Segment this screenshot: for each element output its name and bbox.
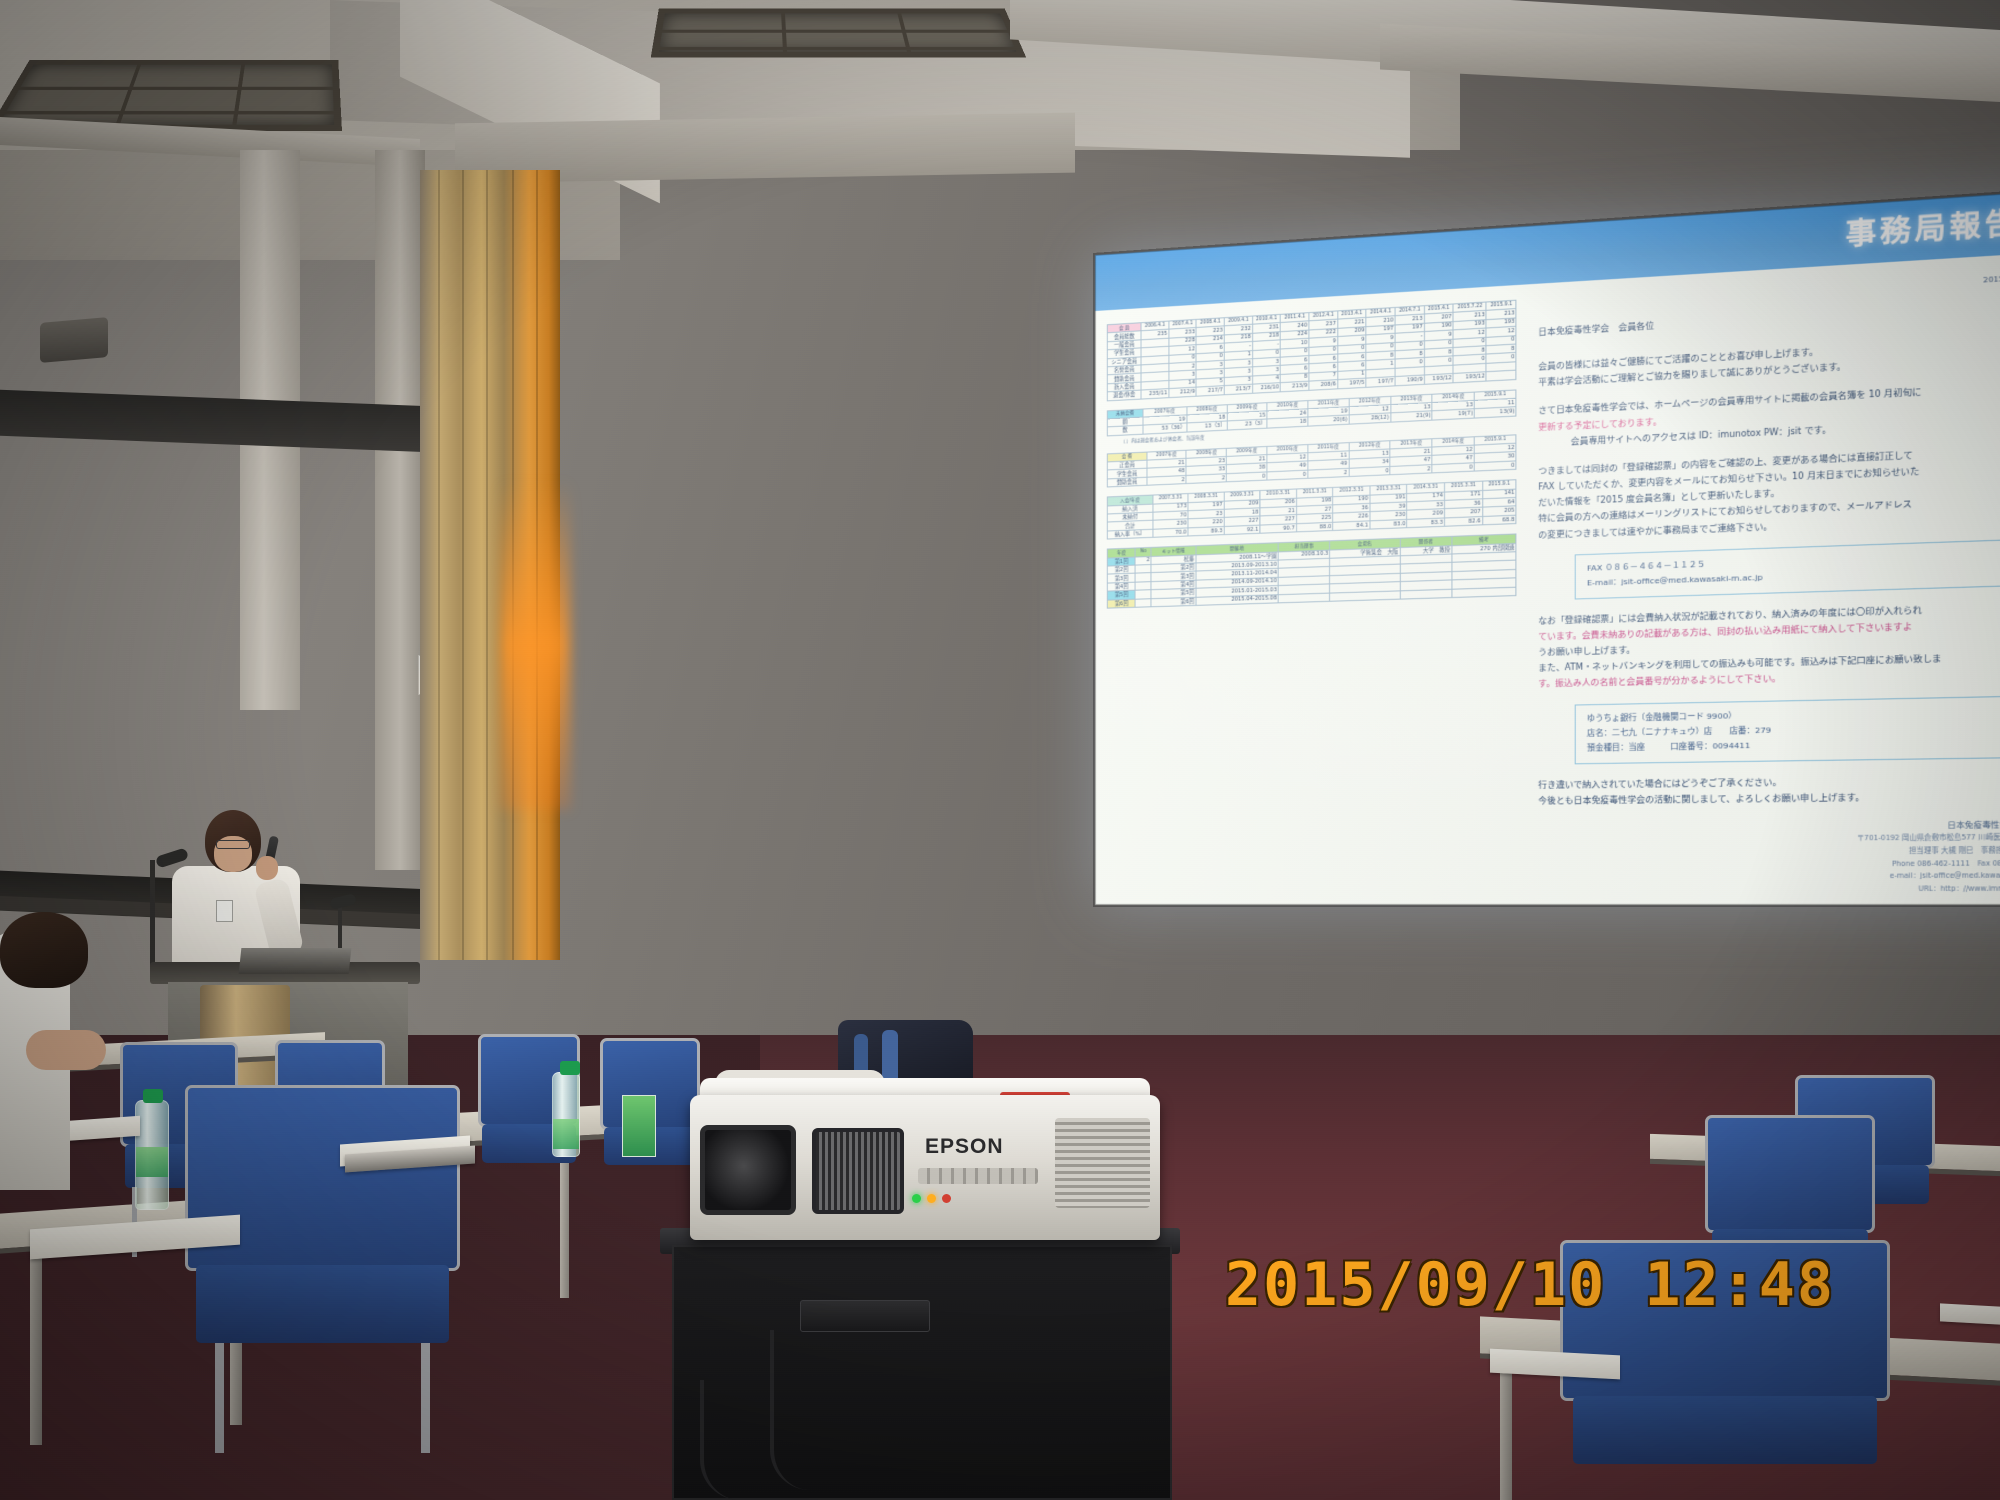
cell: 0 — [1227, 472, 1267, 482]
bottle-label — [136, 1147, 168, 1177]
letter-confirmation-notice: つきましては同封の「登録確認票」の内容をご確認の上、変更がある場合には直接訂正し… — [1538, 441, 2000, 543]
cell: 20(6) — [1308, 415, 1349, 426]
letter-closing: 行き違いで納入されていた場合にはどうぞご了承ください。 今後とも日本免疫毒性学会… — [1538, 771, 2000, 809]
cell: 208/6 — [1309, 380, 1338, 390]
led-power-icon — [912, 1194, 921, 1203]
cell: 21(9) — [1391, 411, 1433, 422]
wall-speaker — [40, 317, 108, 363]
cell: 190/9 — [1395, 375, 1424, 385]
led-temp-icon — [942, 1194, 951, 1203]
cell: 83.0 — [1370, 519, 1407, 529]
signature-email: e-mail：jsit-office@med.kawasaki-m.ac.jp — [1538, 870, 2000, 884]
cell: 216/10 — [1252, 383, 1280, 393]
cell: 193/12 — [1424, 374, 1453, 384]
table-leg — [1500, 1368, 1512, 1500]
row-label: 第6回 — [1107, 599, 1135, 608]
row-label: 納入率（%） — [1107, 529, 1152, 539]
handout-paper[interactable] — [1940, 1303, 2000, 1324]
chair-leg — [215, 1343, 224, 1453]
cell: 212/9 — [1169, 387, 1197, 397]
members-table: 会 員 2006.4.1 2007.4.1 2008.4.1 2009.4.1 … — [1107, 300, 1517, 401]
bottle-label — [553, 1119, 579, 1149]
cell — [1400, 589, 1452, 599]
cell — [1330, 590, 1400, 601]
cell — [1452, 587, 1516, 598]
cell: 197/5 — [1338, 378, 1367, 388]
camera-timestamp: 2015/09/10 12:48 — [1225, 1250, 1835, 1320]
cell: 84.1 — [1333, 521, 1370, 531]
cell: 19(7) — [1432, 409, 1474, 420]
projection-screen: 事務局報告 会 員 2006.4.1 2007.4.1 2008.4.1 200… — [1095, 189, 2000, 905]
cell: 2 — [1390, 464, 1432, 474]
speaker-glasses — [216, 840, 250, 849]
slide-tables-column: 会 員 2006.4.1 2007.4.1 2008.4.1 2009.4.1 … — [1095, 285, 1523, 905]
projector-exhaust-grill — [1055, 1118, 1150, 1208]
chair-leg — [421, 1343, 430, 1453]
podium-laptop — [239, 948, 352, 974]
chair-seat — [1573, 1396, 1877, 1464]
cell: 0 — [1349, 466, 1390, 476]
ceiling-coffer-right — [651, 8, 1026, 57]
cell: 70.0 — [1153, 528, 1189, 538]
cell: 2 — [1308, 468, 1349, 478]
chair-back — [1705, 1115, 1875, 1233]
cell: 197/7 — [1366, 377, 1395, 387]
cell: 235/11 — [1141, 389, 1169, 399]
cell: 第6回 — [1151, 597, 1195, 607]
attendee-foreground-arm — [26, 1030, 106, 1070]
letter-signature: 日本免疫毒性学会 事務局 〒701-0192 岡山県倉敷市松島577 川崎医科大… — [1538, 817, 2000, 896]
water-bottle[interactable] — [135, 1100, 169, 1210]
journal-table: 入会/年度 2007.3.312008.3.312009.3.312010.3.… — [1107, 479, 1517, 539]
bank-box: ゆうちょ銀行（金融機関コード 9900） 店名：二七九（ニナナキュウ）店 店番：… — [1575, 694, 2000, 764]
cell: 82.6 — [1445, 516, 1483, 526]
slide-body: 会 員 2006.4.1 2007.4.1 2008.4.1 2009.4.1 … — [1095, 251, 2000, 906]
projector-vent — [812, 1128, 904, 1214]
speaker-hand — [256, 856, 278, 880]
cell: 18 — [1267, 417, 1308, 428]
cell: 2 — [1147, 475, 1187, 485]
cell: 213/9 — [1281, 381, 1309, 391]
projector-brand-label: EPSON — [925, 1135, 1004, 1159]
table-leg — [30, 1255, 42, 1445]
power-cable — [700, 1380, 770, 1500]
projector-status-leds — [912, 1192, 1042, 1204]
cell: 88.0 — [1296, 522, 1333, 532]
row-label: 退会/休会 — [1107, 390, 1141, 400]
letter-payment-notice: なお「登録確認票」には会費納入状況が記載されており、納入済みの年度には〇印が入れ… — [1538, 598, 2000, 692]
slide-letter-column: 2015 年 10 月 1 日 日本免疫毒性学会 会員各位 会員の皆様には益々ご… — [1523, 251, 2000, 906]
curtain-light-glow — [500, 480, 570, 810]
photo-scene: 事務局報告 会 員 2006.4.1 2007.4.1 2008.4.1 200… — [0, 0, 2000, 1500]
cell: 0 — [1474, 461, 1516, 472]
cell: 0 — [1432, 463, 1474, 474]
cell: 53（36） — [1143, 423, 1187, 434]
cell: 83.3 — [1407, 518, 1444, 528]
water-bottle[interactable] — [552, 1072, 580, 1157]
chair-seat — [196, 1265, 449, 1343]
cell: 28(12) — [1349, 413, 1390, 424]
signature-url: URL：http：//www.immunotox.org — [1538, 883, 2000, 896]
bottle-cap — [560, 1061, 580, 1075]
cell — [1136, 598, 1152, 607]
projector-lens — [700, 1125, 796, 1215]
drink-carton[interactable] — [622, 1095, 656, 1157]
cell: 92.1 — [1224, 525, 1260, 535]
events-table: 年度 No キット情報 開催地 担当理事 会場名 関係者 備考 第1回 2松藤2… — [1107, 534, 1517, 609]
bottle-cap — [143, 1089, 163, 1103]
led-lamp-icon — [927, 1194, 936, 1203]
projector-button-row[interactable] — [918, 1168, 1038, 1184]
cell: 2 — [1186, 474, 1226, 484]
row-label: 数 — [1107, 425, 1142, 435]
av-cart-panel — [800, 1300, 930, 1332]
row-label: 賛助会員 — [1107, 477, 1146, 487]
cell: 13（3） — [1187, 421, 1227, 431]
cell: 0 — [1267, 470, 1308, 480]
pilaster-mid — [375, 150, 425, 870]
cell: 89.3 — [1188, 526, 1224, 536]
cell: 2015.04-2015.08 — [1196, 594, 1279, 605]
slide-content: 事務局報告 会 員 2006.4.1 2007.4.1 2008.4.1 200… — [1095, 189, 2000, 905]
cell: 90.7 — [1260, 524, 1296, 534]
cell: 193/12 — [1453, 372, 1486, 382]
cell: 213/7 — [1224, 384, 1252, 394]
power-cable — [770, 1330, 860, 1490]
cell — [1278, 593, 1330, 603]
letter-roster-notice: さて日本免疫毒性学会では、ホームページの会員専用サイトに掲載の会員名簿を 10 … — [1538, 378, 2000, 451]
cell: 23（3） — [1227, 419, 1267, 430]
contact-box: FAX ０８６－４６４－１１２５ E-mail：jsit-office@med.… — [1575, 537, 2000, 599]
speaker-name-badge — [216, 900, 233, 922]
cell: 217/7 — [1196, 386, 1224, 396]
cell: 13(9) — [1474, 407, 1516, 418]
attendee-foreground-head — [0, 912, 88, 988]
cell: 68.8 — [1482, 515, 1516, 525]
cell — [1486, 370, 1516, 380]
